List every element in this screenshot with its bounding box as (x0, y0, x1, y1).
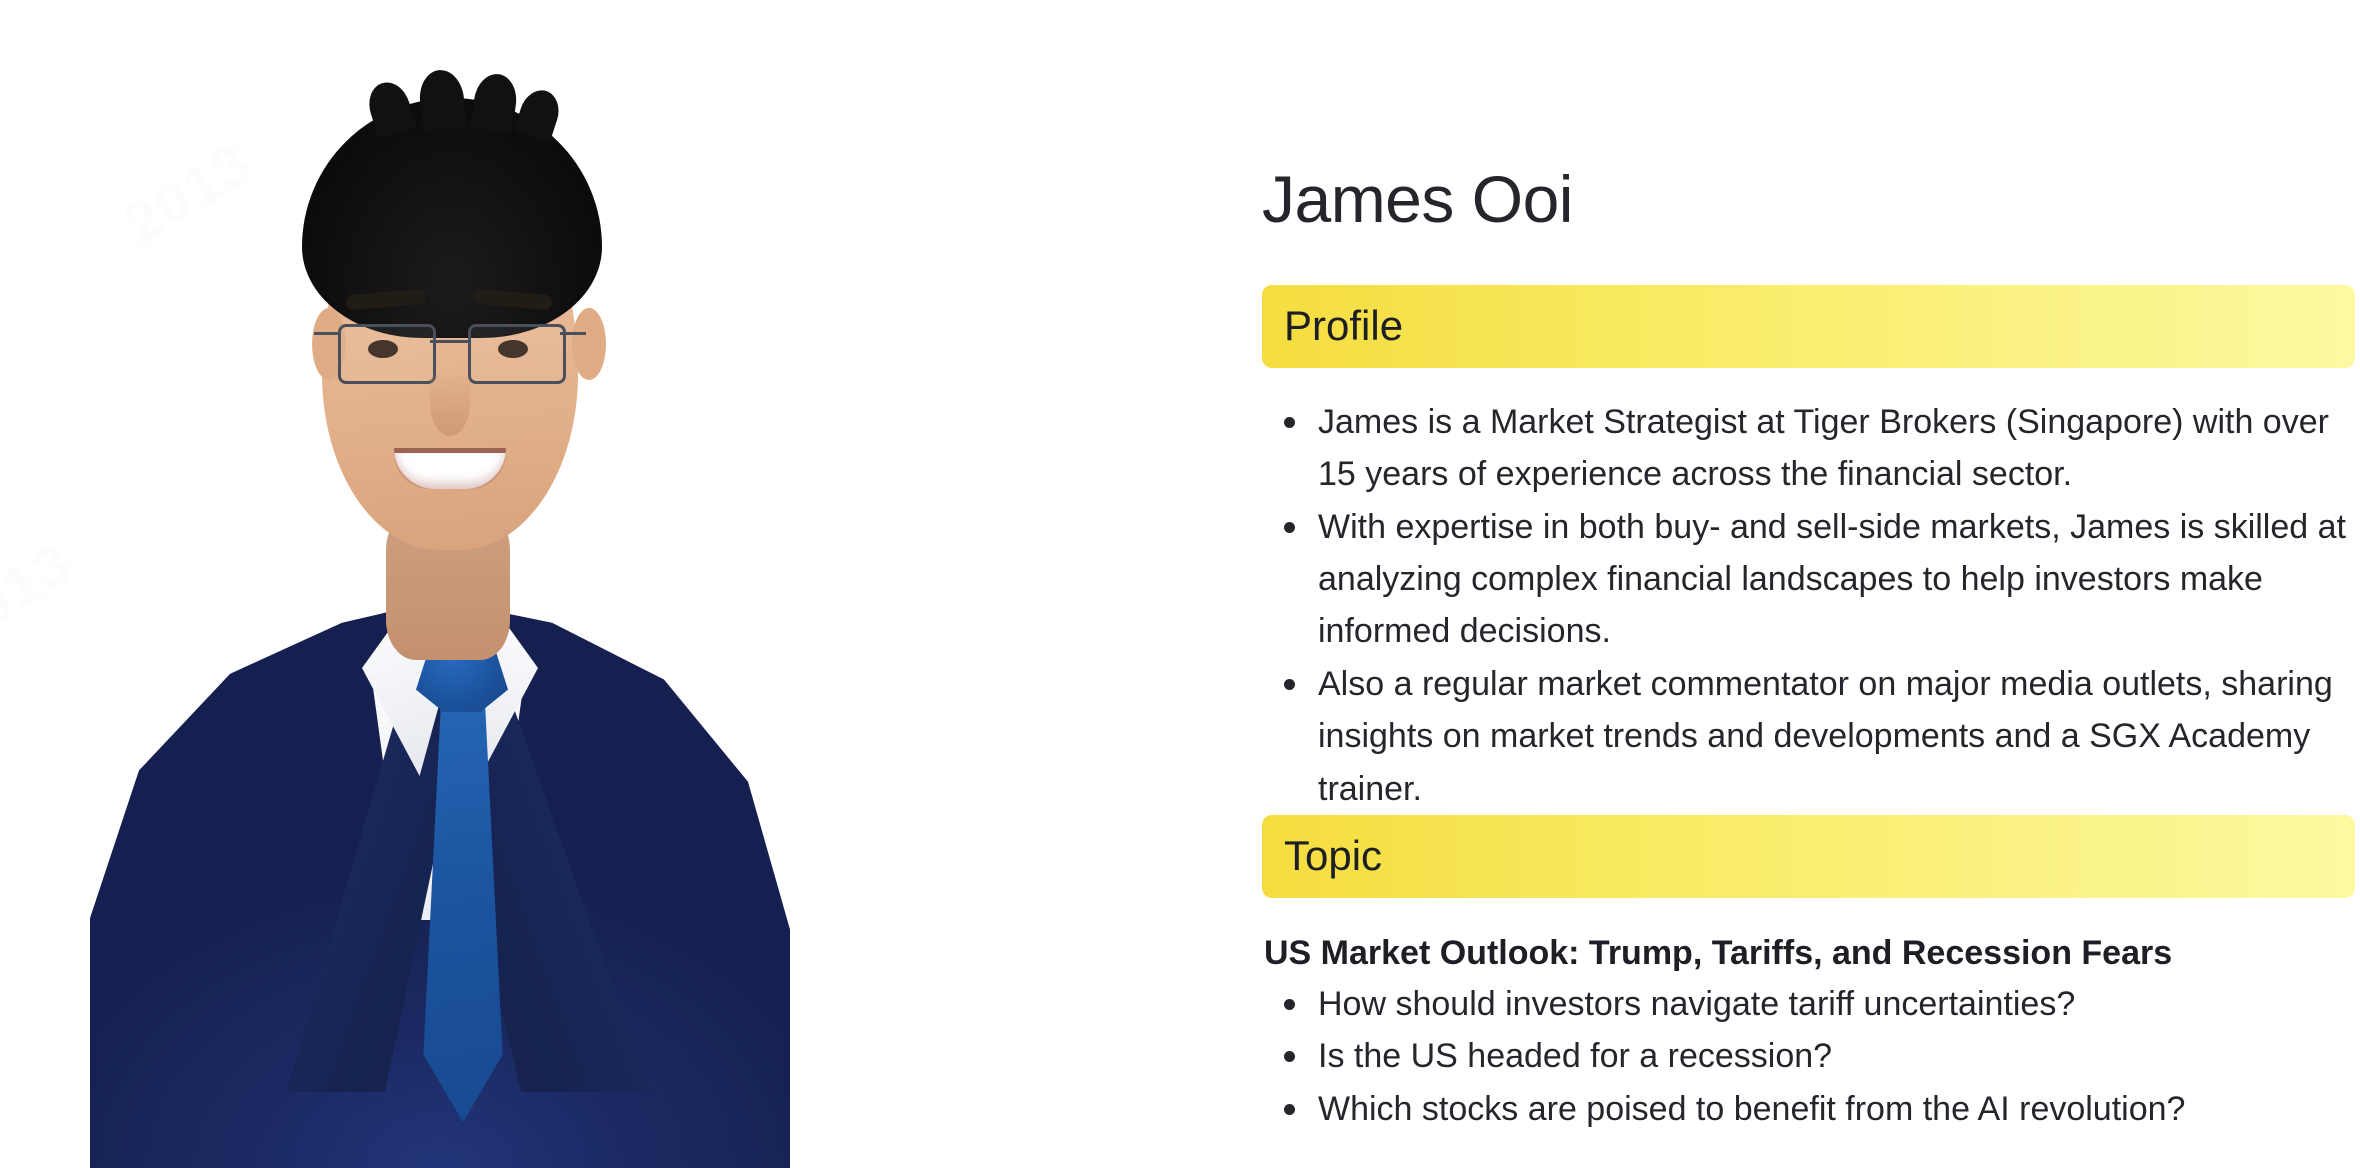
list-item: James is a Market Strategist at Tiger Br… (1262, 396, 2360, 501)
eyeglasses-arm-left (314, 332, 340, 335)
hair-spike (417, 68, 467, 132)
topic-section-label: Topic (1284, 835, 1382, 877)
topic-heading: US Market Outlook: Trump, Tariffs, and R… (1264, 930, 2172, 978)
eyeglasses-bridge (430, 340, 468, 343)
profile-section-header: Profile (1262, 285, 2355, 368)
speaker-photo (0, 0, 1240, 1168)
topic-bullet-list: How should investors navigate tariff unc… (1262, 978, 2360, 1135)
eyeglasses-lens-left (338, 324, 436, 384)
nose (430, 370, 470, 436)
profile-bullet-list: James is a Market Strategist at Tiger Br… (1262, 396, 2360, 815)
topic-section-header: Topic (1262, 815, 2355, 898)
page-title: James Ooi (1262, 166, 1573, 232)
eyeglasses-arm-right (560, 332, 586, 335)
profile-section-label: Profile (1284, 305, 1403, 347)
speaker-details: James Ooi Profile James is a Market Stra… (1262, 0, 2360, 1168)
list-item: How should investors navigate tariff unc… (1262, 978, 2360, 1030)
list-item: With expertise in both buy- and sell-sid… (1262, 501, 2360, 658)
list-item: Is the US headed for a recession? (1262, 1030, 2360, 1082)
ear-right (572, 308, 606, 380)
speaker-profile-slide: 2013 2013 2013 (0, 0, 2360, 1168)
list-item: Also a regular market commentator on maj… (1262, 658, 2360, 815)
eyeglasses-lens-right (468, 324, 566, 384)
portrait-illustration (90, 40, 790, 1168)
hair-spike (470, 71, 519, 132)
list-item: Which stocks are poised to benefit from … (1262, 1083, 2360, 1135)
